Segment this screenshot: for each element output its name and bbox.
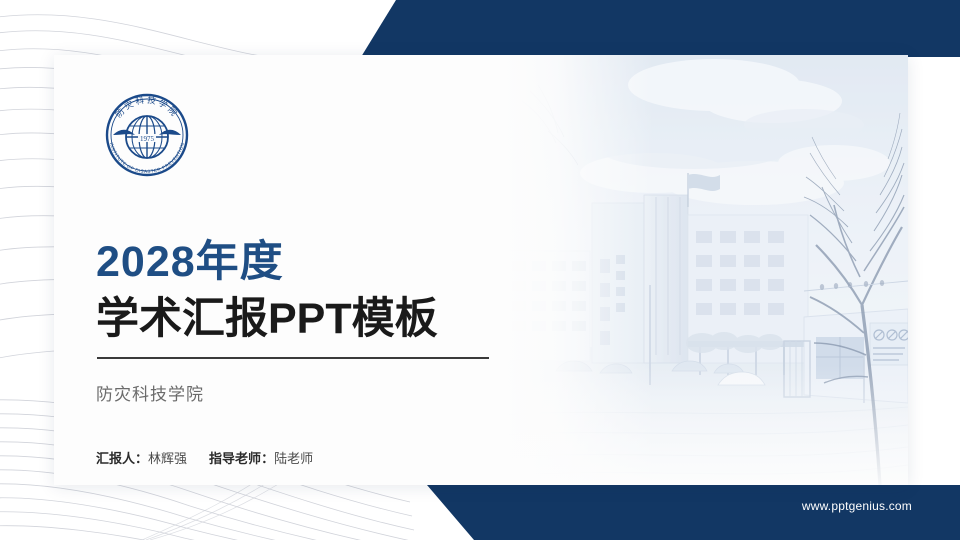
presenter-label: 汇报人 [96,451,135,466]
presenter-separator: ： [135,451,148,466]
slide-year-title: 2028年度 [96,241,284,284]
title-divider [97,357,489,359]
university-seal-logo: 1975 防灾科技学院 INSTITUTE OF DISASTER PREVEN… [97,85,197,185]
footer-website-url: www.pptgenius.com [802,499,912,513]
slide-main-title: 学术汇报PPT模板 [96,298,438,341]
seal-year-text: 1975 [140,135,155,143]
presenter-name: 林辉强 [148,451,187,466]
advisor-label: 指导老师 [209,451,261,466]
credits-row: 汇报人：林辉强指导老师：陆老师 [96,448,313,467]
campus-photo [504,55,908,485]
presentation-slide: 1975 防灾科技学院 INSTITUTE OF DISASTER PREVEN… [0,0,960,540]
slide-subtitle: 防灾科技学院 [96,380,204,405]
advisor-separator: ： [261,451,274,466]
advisor-name: 陆老师 [274,451,313,466]
title-column: 1975 防灾科技学院 INSTITUTE OF DISASTER PREVEN… [54,55,524,485]
content-card: 1975 防灾科技学院 INSTITUTE OF DISASTER PREVEN… [54,55,908,485]
